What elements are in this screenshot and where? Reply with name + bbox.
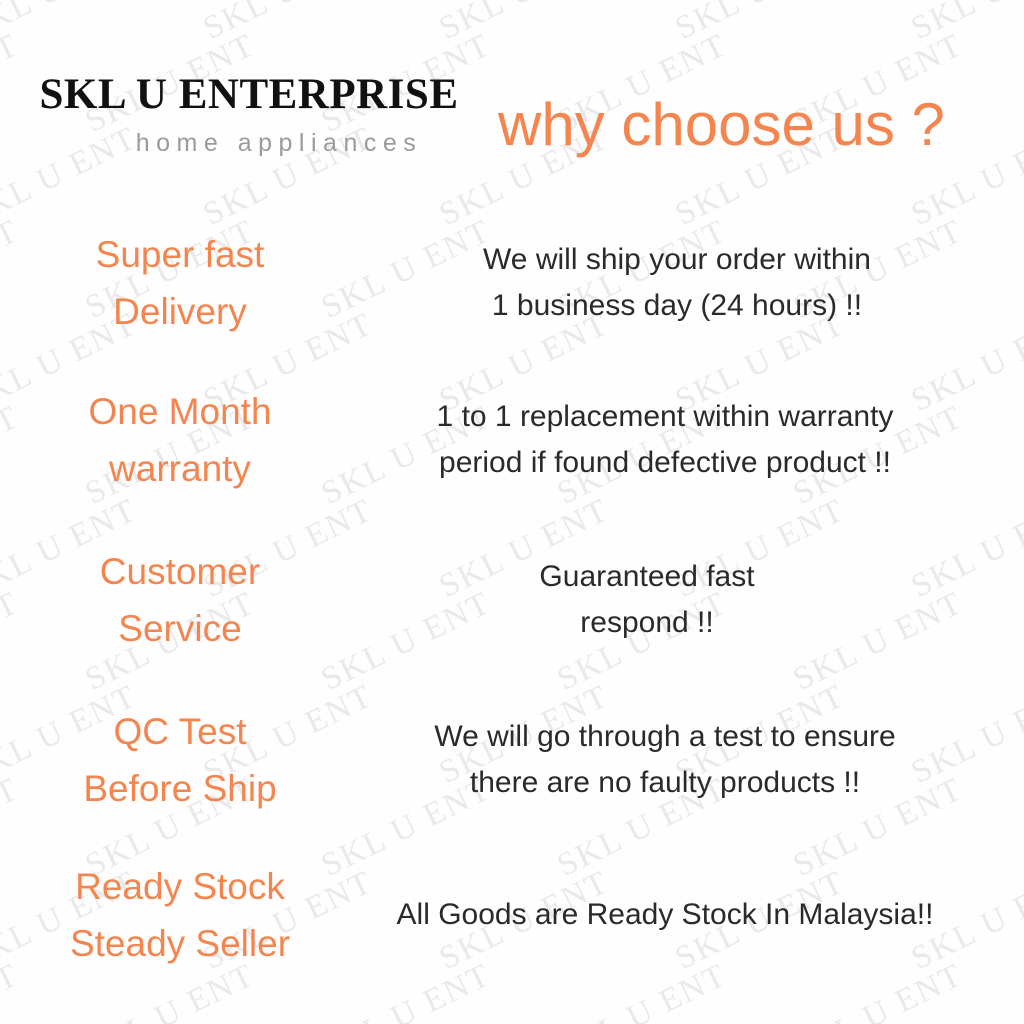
promo-graphic: SKL U ENTSKL U ENTSKL U ENTSKL U ENTSKL … [0, 0, 1024, 1024]
feature-label-line: One Month [0, 383, 360, 440]
feature-label: Super fast Delivery [0, 226, 360, 341]
feature-description: 1 to 1 replacement within warranty perio… [360, 394, 970, 487]
feature-row: One Month warranty 1 to 1 replacement wi… [0, 380, 1024, 500]
feature-description: We will ship your order within 1 busines… [372, 237, 982, 330]
feature-label-line: Super fast [0, 226, 360, 283]
feature-label: One Month warranty [0, 383, 360, 498]
feature-desc-line: We will go through a test to ensure [360, 714, 970, 761]
feature-desc-line: there are no faulty products !! [360, 760, 970, 807]
header: SKL U ENTERPRISE home appliances why cho… [0, 0, 1024, 205]
brand-name: SKL U ENTERPRISE [14, 72, 484, 117]
feature-desc-line: period if found defective product !! [360, 440, 970, 487]
feature-row: QC Test Before Ship We will go through a… [0, 700, 1024, 820]
feature-label-line: QC Test [0, 703, 360, 760]
feature-label: Ready Stock Steady Seller [0, 858, 360, 973]
feature-desc-line: Guaranteed fast [342, 554, 952, 601]
feature-label: QC Test Before Ship [0, 703, 360, 818]
feature-label-line: Service [0, 600, 360, 657]
brand-tagline: home appliances [74, 129, 484, 158]
feature-label-line: warranty [0, 440, 360, 497]
feature-row: Ready Stock Steady Seller All Goods are … [0, 855, 1024, 975]
feature-description: All Goods are Ready Stock In Malaysia!! [360, 892, 970, 939]
page-title: why choose us ? [498, 90, 1018, 159]
content-area: SKL U ENTERPRISE home appliances why cho… [0, 0, 1024, 1024]
feature-label-line: Delivery [0, 283, 360, 340]
feature-label-line: Steady Seller [0, 915, 360, 972]
feature-label-line: Customer [0, 543, 360, 600]
brand-block: SKL U ENTERPRISE home appliances [14, 72, 484, 158]
feature-row: Super fast Delivery We will ship your or… [0, 223, 1024, 343]
feature-list: Super fast Delivery We will ship your or… [0, 205, 1024, 1024]
feature-row: Customer Service Guaranteed fast respond… [0, 540, 1024, 660]
feature-description: Guaranteed fast respond !! [342, 554, 952, 647]
feature-label-line: Before Ship [0, 760, 360, 817]
feature-desc-line: 1 business day (24 hours) !! [372, 283, 982, 330]
feature-description: We will go through a test to ensure ther… [360, 714, 970, 807]
feature-desc-line: 1 to 1 replacement within warranty [360, 394, 970, 441]
feature-desc-line: We will ship your order within [372, 237, 982, 284]
feature-label-line: Ready Stock [0, 858, 360, 915]
feature-desc-line: All Goods are Ready Stock In Malaysia!! [360, 892, 970, 939]
feature-desc-line: respond !! [342, 600, 952, 647]
feature-label: Customer Service [0, 543, 360, 658]
